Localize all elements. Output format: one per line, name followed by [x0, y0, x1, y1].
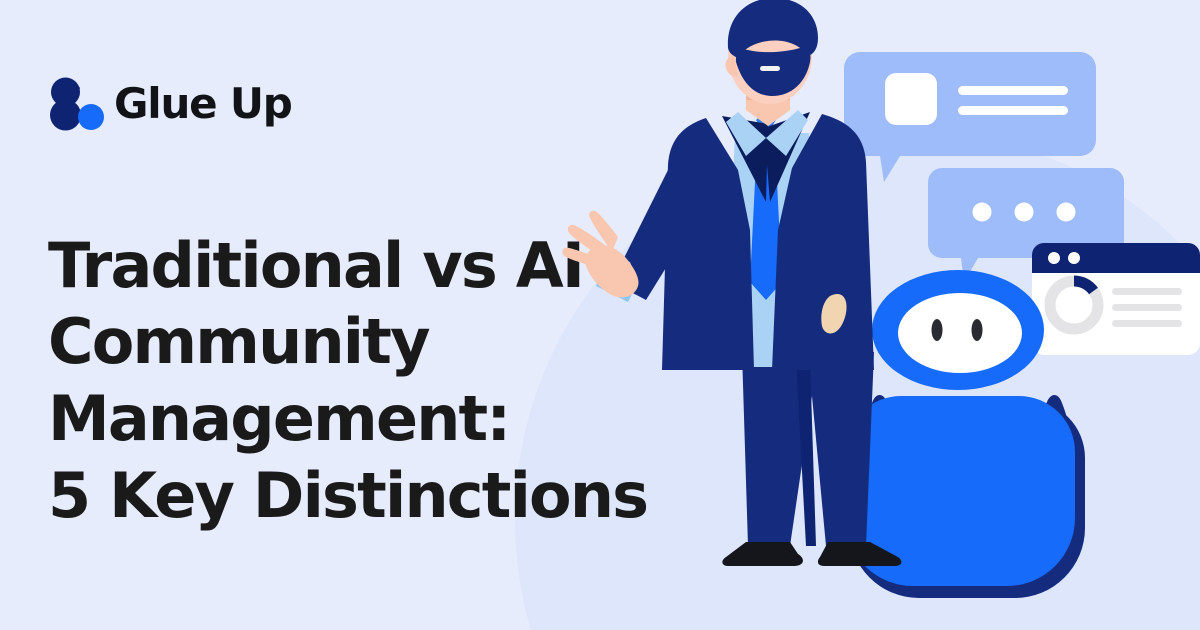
glue-up-logo-mark	[48, 76, 106, 132]
window-dot	[1068, 252, 1080, 264]
robot-eye-left	[932, 319, 943, 341]
typing-dot	[1057, 203, 1076, 222]
mouth	[760, 66, 780, 71]
social-share-card: Glue Up Traditional vs AI Community Mana…	[0, 0, 1200, 630]
dashboard-window-card	[1032, 243, 1200, 355]
card-text-line	[1112, 304, 1182, 311]
typing-dot	[973, 203, 992, 222]
bubble-text-line	[958, 106, 1068, 115]
robot-eye-right	[972, 319, 983, 341]
bubble-avatar-square	[885, 73, 937, 125]
chat-bubble-with-avatar	[844, 52, 1096, 182]
glue-up-logo-text: Glue Up	[114, 83, 292, 125]
card-text-line	[1112, 288, 1182, 295]
window-dot	[1048, 252, 1060, 264]
glue-up-logo[interactable]: Glue Up	[48, 74, 292, 134]
typing-dot	[1015, 203, 1034, 222]
shoe-left	[722, 542, 803, 566]
robot-face	[898, 293, 1022, 373]
hero-illustration	[560, 0, 1200, 630]
bubble-text-line	[958, 86, 1068, 95]
card-text-line	[1112, 320, 1182, 327]
